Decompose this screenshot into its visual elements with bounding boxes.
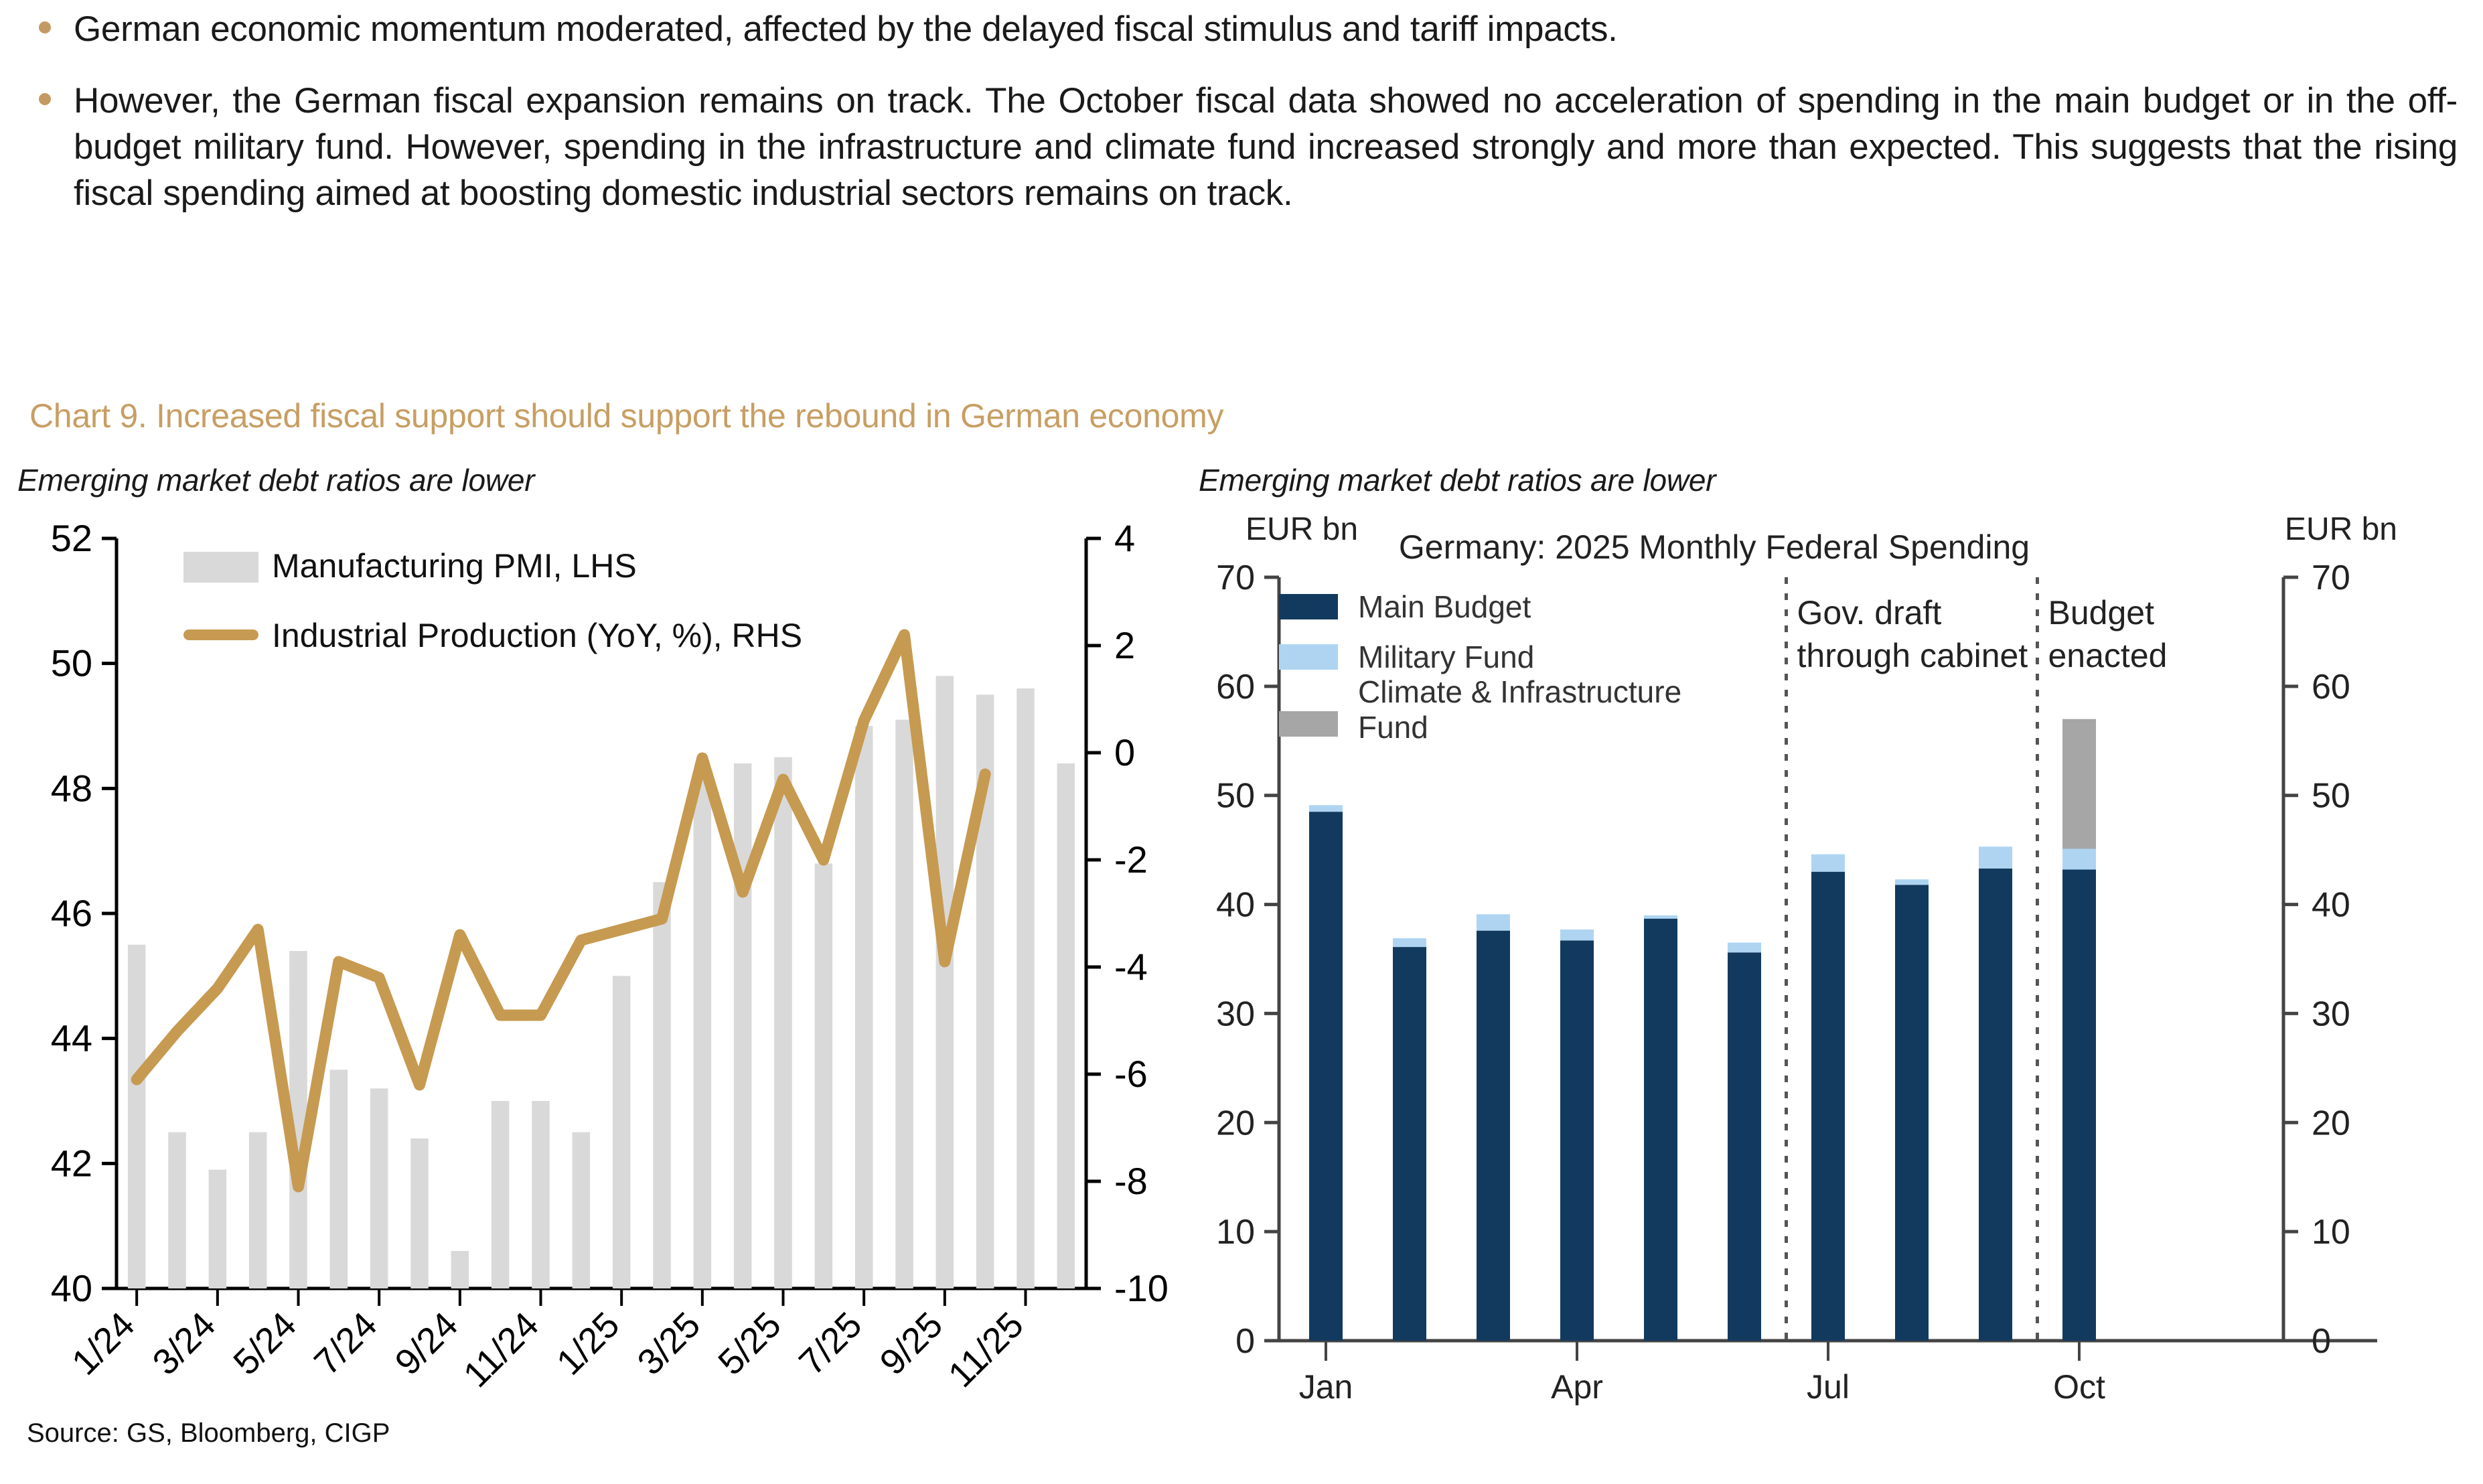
table-row (1644, 915, 1677, 919)
right-bars-group (1309, 719, 2096, 1341)
table-row (1979, 869, 2012, 1341)
y2-tick-label: 4 (1114, 517, 1135, 559)
x-tick-label: Jan (1299, 1368, 1353, 1406)
right-x-tick-labels: JanAprJulOct (1299, 1341, 2105, 1406)
y-tick-label: 50 (1216, 777, 1255, 816)
table-row (2062, 869, 2096, 1341)
table-row (2062, 719, 2096, 849)
y-tick-label: 60 (1216, 668, 1255, 707)
y2-tick-label: 40 (2312, 886, 2350, 925)
y-tick-label: 40 (51, 1267, 92, 1309)
y2-tick-label: 60 (2312, 668, 2350, 707)
table-row (855, 726, 873, 1288)
x-tick-label: 5/24 (226, 1305, 304, 1383)
source-note: Source: GS, Bloomberg, CIGP (27, 1418, 390, 1449)
table-row (1309, 812, 1343, 1341)
table-row (1393, 938, 1426, 947)
table-row (1895, 885, 1929, 1341)
table-row (1477, 931, 1510, 1341)
y2-tick-label: -6 (1114, 1053, 1148, 1095)
left-x-tick-labels: 1/243/245/247/249/2411/241/253/255/257/2… (64, 1288, 1031, 1395)
chart-caption: Chart 9. Increased fiscal support should… (29, 396, 1223, 435)
y2-tick-label: 70 (2312, 559, 2350, 597)
x-tick-label: 9/24 (388, 1305, 466, 1383)
bullet-dot-icon (39, 21, 51, 33)
table-row (895, 720, 913, 1288)
y2-tick-label: 0 (1114, 731, 1135, 773)
right-chart-unit-right: EUR bn (2285, 512, 2397, 547)
annotation-line2: enacted (2048, 637, 2168, 674)
table-row (1728, 943, 1761, 953)
table-row (330, 1069, 348, 1288)
table-row (249, 1132, 267, 1288)
right-chart-subtitle: Emerging market debt ratios are lower (1199, 462, 2471, 498)
legend-swatch-climate-fund (1279, 711, 1338, 737)
table-row (2062, 849, 2096, 870)
bullet-item: However, the German fiscal expansion rem… (27, 78, 2458, 217)
y-tick-label: 52 (51, 517, 92, 559)
table-row (168, 1132, 186, 1288)
x-tick-label: 7/25 (792, 1305, 870, 1383)
table-row (1811, 855, 1845, 872)
x-tick-label: 1/25 (549, 1305, 627, 1383)
y-tick-label: 42 (51, 1142, 92, 1184)
y2-tick-label: 10 (2312, 1213, 2350, 1252)
table-row (613, 976, 631, 1288)
legend-label-industrial-production: Industrial Production (YoY, %), RHS (272, 617, 802, 654)
table-row (209, 1170, 227, 1288)
table-row (1644, 919, 1677, 1341)
y-tick-label: 44 (51, 1017, 92, 1059)
table-row (410, 1138, 429, 1288)
y2-tick-label: -10 (1114, 1267, 1169, 1309)
x-tick-label: 5/25 (710, 1305, 789, 1383)
table-row (1560, 940, 1594, 1341)
y-tick-label: 48 (51, 767, 92, 809)
y-tick-label: 70 (1216, 559, 1255, 597)
table-row (128, 945, 146, 1288)
bullet-text: German economic momentum moderated, affe… (74, 7, 2458, 53)
y2-tick-label: 2 (1114, 624, 1135, 666)
left-chart-svg: 40424446485052-10-8-6-4-2024 1/243/245/2… (17, 498, 1196, 1436)
annotation-line2: through cabinet (1797, 637, 2028, 674)
left-chart-subtitle: Emerging market debt ratios are lower (17, 462, 1196, 498)
left-chart-panel: Emerging market debt ratios are lower 40… (17, 462, 1196, 1436)
y-tick-label: 0 (1235, 1322, 1255, 1361)
table-row (1811, 872, 1845, 1341)
annotation-line1: Budget (2048, 594, 2155, 632)
y2-tick-label: 0 (2312, 1322, 2331, 1361)
y2-tick-label: -8 (1114, 1160, 1148, 1202)
table-row (370, 1088, 388, 1288)
x-tick-label: Jul (1807, 1368, 1850, 1406)
x-tick-label: Apr (1551, 1368, 1603, 1406)
table-row (1309, 805, 1343, 812)
legend-label-climate-fund-line1: Climate & Infrastructure (1358, 674, 1681, 709)
bullet-item: German economic momentum moderated, affe… (27, 7, 2458, 53)
table-row (451, 1251, 469, 1288)
y-tick-label: 46 (51, 892, 92, 934)
x-tick-label: 11/24 (456, 1305, 546, 1395)
x-tick-label: 3/24 (145, 1305, 224, 1383)
slide-page: German economic momentum moderated, affe… (0, 0, 2483, 1484)
left-legend: Manufacturing PMI, LHS Industrial Produc… (183, 547, 802, 654)
legend-label-main-budget: Main Budget (1358, 589, 1531, 624)
table-row (532, 1101, 550, 1288)
x-tick-label: 1/24 (64, 1305, 143, 1383)
x-tick-label: 3/25 (630, 1305, 708, 1383)
table-row (1728, 952, 1761, 1341)
bullet-list: German economic momentum moderated, affe… (27, 7, 2458, 242)
table-row (1477, 914, 1510, 930)
legend-label-manufacturing-pmi: Manufacturing PMI, LHS (272, 547, 637, 585)
right-chart-title: Germany: 2025 Monthly Federal Spending (1399, 528, 2030, 566)
table-row (1017, 688, 1035, 1288)
table-row (1057, 763, 1075, 1288)
legend-swatch-manufacturing-pmi (183, 552, 258, 583)
table-row (1560, 930, 1594, 940)
y2-tick-label: -4 (1114, 946, 1148, 988)
legend-label-climate-fund-line2: Fund (1358, 710, 1428, 745)
table-row (774, 757, 792, 1288)
y-tick-label: 10 (1216, 1213, 1255, 1252)
table-row (936, 676, 954, 1288)
table-row (573, 1132, 591, 1288)
table-row (815, 863, 833, 1288)
y2-tick-label: -2 (1114, 838, 1148, 881)
right-chart-svg: EUR bn EUR bn Germany: 2025 Monthly Fede… (1199, 498, 2471, 1436)
bullet-text: However, the German fiscal expansion rem… (74, 78, 2458, 217)
y-tick-label: 40 (1216, 886, 1255, 925)
right-chart-unit-left: EUR bn (1246, 512, 1358, 547)
legend-label-military-fund: Military Fund (1358, 640, 1534, 674)
right-chart-panel: Emerging market debt ratios are lower EU… (1199, 462, 2471, 1436)
y2-tick-label: 20 (2312, 1104, 2350, 1142)
y-tick-label: 20 (1216, 1104, 1255, 1142)
x-tick-label: 9/25 (873, 1305, 951, 1383)
legend-swatch-military-fund (1279, 644, 1338, 670)
y2-tick-label: 30 (2312, 994, 2350, 1033)
right-legend: Main Budget Military Fund Climate & Infr… (1279, 589, 1681, 745)
annotation-line1: Gov. draft (1797, 594, 1942, 632)
y-tick-label: 50 (51, 642, 92, 684)
x-tick-label: 11/25 (941, 1305, 1031, 1395)
table-row (492, 1101, 510, 1288)
legend-swatch-main-budget (1279, 594, 1338, 619)
legend-swatch-industrial-production (183, 629, 258, 640)
table-row (1979, 846, 2012, 869)
table-row (734, 763, 752, 1288)
x-tick-label: Oct (2053, 1368, 2105, 1406)
x-tick-label: 7/24 (307, 1305, 385, 1383)
table-row (1895, 879, 1929, 885)
y2-tick-label: 50 (2312, 777, 2350, 816)
table-row (1393, 947, 1426, 1341)
table-row (694, 769, 712, 1288)
bullet-dot-icon (39, 93, 51, 105)
y-tick-label: 30 (1216, 994, 1255, 1033)
table-row (653, 882, 671, 1288)
